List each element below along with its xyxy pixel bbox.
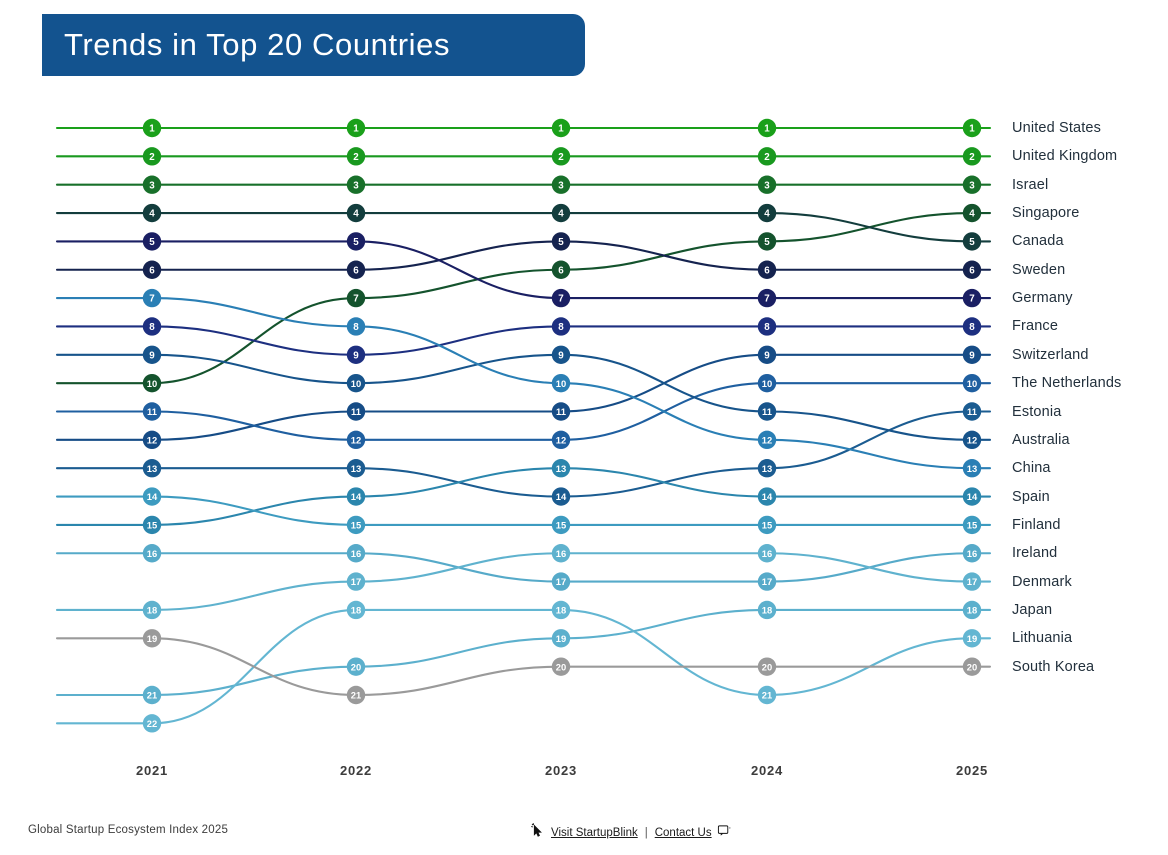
- country-label: Finland: [1012, 517, 1061, 533]
- year-axis-label: 2022: [340, 763, 372, 778]
- country-label: United Kingdom: [1012, 148, 1117, 164]
- country-label: Sweden: [1012, 262, 1065, 278]
- footer-separator: |: [643, 827, 650, 839]
- country-label: South Korea: [1012, 659, 1094, 675]
- bump-chart: 1111122222333331076544444566566557778988…: [0, 0, 1168, 800]
- country-label: United States: [1012, 120, 1101, 136]
- country-label: Switzerland: [1012, 347, 1089, 363]
- country-label: Lithuania: [1012, 630, 1072, 646]
- country-label: Spain: [1012, 489, 1050, 505]
- country-label: Estonia: [1012, 404, 1061, 420]
- footer: Global Startup Ecosystem Index 2025 Visi…: [0, 810, 1168, 855]
- country-label: Australia: [1012, 432, 1070, 448]
- country-label: Canada: [1012, 233, 1064, 249]
- country-label: Israel: [1012, 177, 1048, 193]
- country-label: Denmark: [1012, 574, 1072, 590]
- country-label: Japan: [1012, 602, 1052, 618]
- contact-us-link[interactable]: Contact Us: [655, 827, 712, 839]
- chat-bubble-icon[interactable]: [717, 824, 732, 843]
- year-axis-label: 2021: [136, 763, 168, 778]
- country-label: Ireland: [1012, 545, 1057, 561]
- year-axis-label: 2025: [956, 763, 988, 778]
- year-axis-label: 2024: [751, 763, 783, 778]
- country-label: The Netherlands: [1012, 375, 1121, 391]
- chart-labels-layer: United StatesUnited KingdomIsraelSingapo…: [0, 0, 1168, 800]
- footer-source-text: Global Startup Ecosystem Index 2025: [28, 824, 228, 836]
- country-label: China: [1012, 460, 1051, 476]
- cursor-click-icon: [530, 823, 546, 843]
- year-axis-label: 2023: [545, 763, 577, 778]
- footer-links: Visit StartupBlink | Contact Us: [530, 823, 732, 843]
- visit-startupblink-link[interactable]: Visit StartupBlink: [551, 827, 638, 839]
- country-label: Singapore: [1012, 205, 1079, 221]
- country-label: Germany: [1012, 290, 1073, 306]
- country-label: France: [1012, 318, 1058, 334]
